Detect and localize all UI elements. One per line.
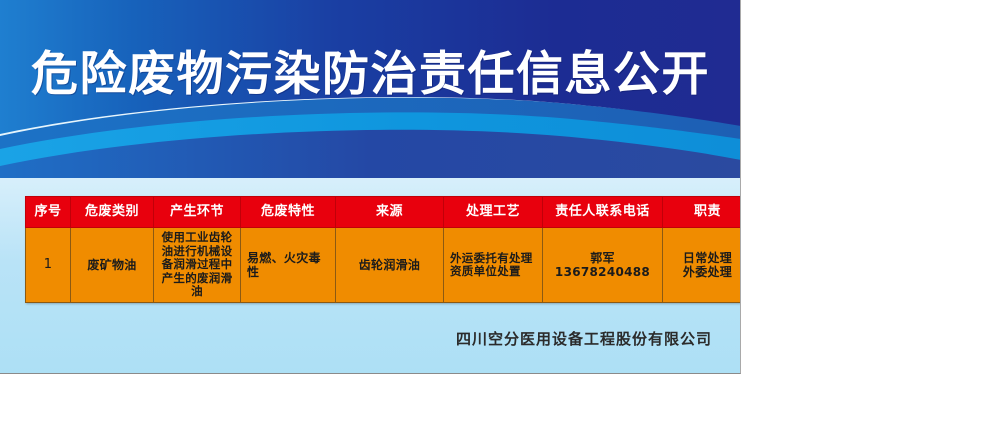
page-title: 危险废物污染防治责任信息公开 (0, 48, 741, 102)
col-header-source: 来源 (336, 197, 444, 228)
responsible-person-phone: 13678240488 (545, 265, 660, 279)
col-header-category: 危废类别 (71, 197, 154, 228)
cell-source: 齿轮润滑油 (336, 228, 444, 303)
responsible-person-name: 郭军 (545, 251, 660, 265)
table-header: 序号 危废类别 产生环节 危废特性 来源 处理工艺 责任人联系电话 职责 (26, 197, 742, 228)
table-row: 1 废矿物油 使用工业齿轮油进行机械设备润滑过程中产生的废润滑油 易燃、火灾毒性… (26, 228, 742, 303)
duty-line-2: 外委处理 (665, 265, 741, 279)
table-header-row: 序号 危废类别 产生环节 危废特性 来源 处理工艺 责任人联系电话 职责 (26, 197, 742, 228)
cell-duty: 日常处理 外委处理 (663, 228, 742, 303)
cell-treatment-process: 外运委托有处理资质单位处置 (444, 228, 543, 303)
cell-index: 1 (26, 228, 71, 303)
col-header-hazard-property: 危废特性 (241, 197, 336, 228)
cell-generation-stage: 使用工业齿轮油进行机械设备润滑过程中产生的废润滑油 (154, 228, 241, 303)
table-body: 1 废矿物油 使用工业齿轮油进行机械设备润滑过程中产生的废润滑油 易燃、火灾毒性… (26, 228, 742, 303)
poster-banner: 危险废物污染防治责任信息公开 (0, 0, 741, 178)
cell-hazard-property: 易燃、火灾毒性 (241, 228, 336, 303)
information-disclosure-poster: 危险废物污染防治责任信息公开 序号 危废类别 产生环节 危废特性 来源 处理工艺… (0, 0, 741, 374)
cell-responsible-contact: 郭军 13678240488 (543, 228, 663, 303)
hazardous-waste-table: 序号 危废类别 产生环节 危废特性 来源 处理工艺 责任人联系电话 职责 1 废… (25, 196, 741, 303)
col-header-generation-stage: 产生环节 (154, 197, 241, 228)
col-header-duty: 职责 (663, 197, 742, 228)
col-header-treatment-process: 处理工艺 (444, 197, 543, 228)
col-header-index: 序号 (26, 197, 71, 228)
cell-category: 废矿物油 (71, 228, 154, 303)
company-name: 四川空分医用设备工程股份有限公司 (0, 328, 712, 349)
duty-line-1: 日常处理 (665, 251, 741, 265)
col-header-responsible-phone: 责任人联系电话 (543, 197, 663, 228)
